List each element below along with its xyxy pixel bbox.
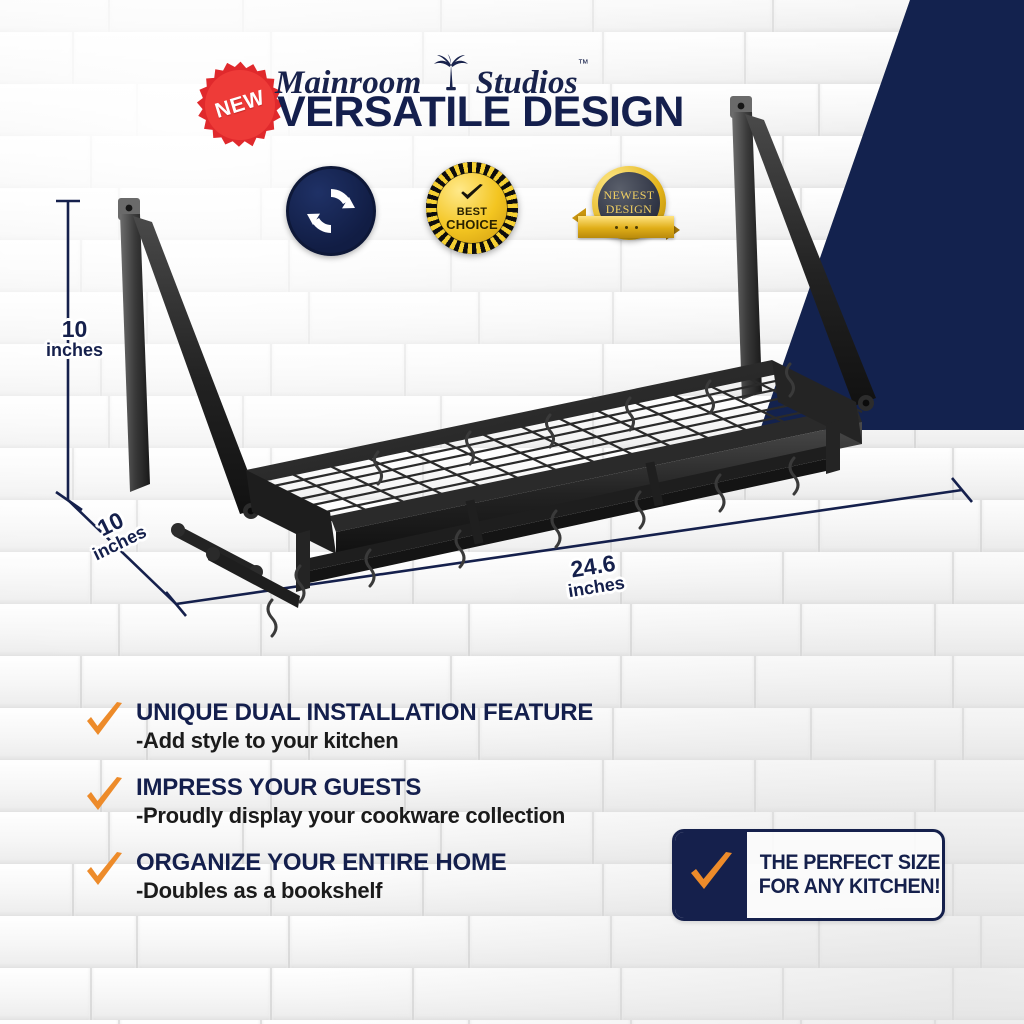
callout-check-panel: [675, 832, 747, 918]
benefit-list: UNIQUE DUAL INSTALLATION FEATURE -Add st…: [84, 700, 704, 926]
pot-rack: [118, 96, 876, 636]
orange-check-icon: [688, 851, 734, 900]
orange-check-icon: [84, 852, 124, 892]
benefit-subtitle: -Add style to your kitchen: [136, 728, 704, 753]
bracket-left: [118, 198, 262, 519]
benefit-item: UNIQUE DUAL INSTALLATION FEATURE -Add st…: [84, 700, 704, 753]
dimension-height-unit: inches: [46, 341, 103, 359]
product-illustration: [0, 0, 1024, 700]
benefit-title: ORGANIZE YOUR ENTIRE HOME: [136, 850, 704, 876]
benefit-title: IMPRESS YOUR GUESTS: [136, 775, 704, 801]
dimension-height-label: 10 inches: [46, 318, 103, 359]
bracket-right: [730, 96, 876, 411]
perfect-size-callout: THE PERFECT SIZE FOR ANY KITCHEN!: [672, 829, 945, 921]
benefit-subtitle: -Proudly display your cookware collectio…: [136, 803, 704, 828]
benefit-title: UNIQUE DUAL INSTALLATION FEATURE: [136, 700, 704, 726]
orange-check-icon: [84, 777, 124, 817]
dimension-width-label: 24.6 inches: [563, 551, 626, 600]
benefit-subtitle: -Doubles as a bookshelf: [136, 878, 704, 903]
callout-line2: FOR ANY KITCHEN!: [759, 875, 941, 899]
benefit-item: ORGANIZE YOUR ENTIRE HOME -Doubles as a …: [84, 850, 704, 903]
product-infographic: NEW Mainroom Studios ™: [0, 0, 1024, 1024]
callout-text: THE PERFECT SIZE FOR ANY KITCHEN!: [747, 832, 945, 918]
benefit-item: IMPRESS YOUR GUESTS -Proudly display you…: [84, 775, 704, 828]
orange-check-icon: [84, 702, 124, 742]
dimension-height-value: 10: [46, 318, 103, 341]
callout-line1: THE PERFECT SIZE: [759, 851, 939, 875]
